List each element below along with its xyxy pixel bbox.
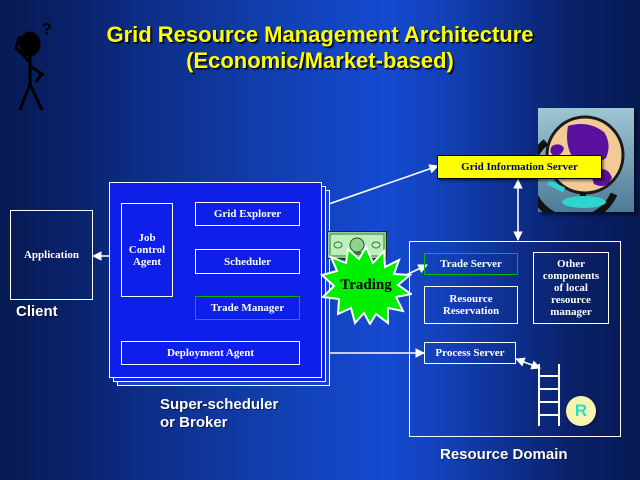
application-label: Application	[24, 249, 79, 261]
resource-domain-caption: Resource Domain	[440, 446, 568, 464]
trade-server-label: Trade Server	[440, 258, 502, 270]
super-scheduler-caption-line-1: Super-scheduler	[160, 396, 278, 414]
other-components-label-4: resource	[551, 294, 591, 306]
resource-badge-label: R	[575, 401, 587, 421]
application-box[interactable]: Application	[10, 210, 93, 300]
thinking-person-icon: ?	[6, 14, 66, 114]
job-control-agent-box[interactable]: Job Control Agent	[121, 203, 173, 297]
super-scheduler-caption: Super-scheduler or Broker	[160, 396, 278, 432]
slide-canvas: Grid Resource Management Architecture (E…	[0, 0, 640, 480]
resource-badge: R	[566, 396, 596, 426]
resource-reservation-box[interactable]: Resource Reservation	[424, 286, 518, 324]
resource-reservation-label-2: Reservation	[443, 305, 499, 317]
job-control-agent-label-2: Control	[129, 244, 165, 256]
job-control-agent-label-3: Agent	[133, 256, 161, 268]
process-server-label: Process Server	[435, 347, 504, 359]
other-components-label-2: components	[543, 270, 599, 282]
page-title: Grid Resource Management Architecture (E…	[0, 22, 640, 74]
process-server-box[interactable]: Process Server	[424, 342, 516, 364]
grid-explorer-label: Grid Explorer	[214, 208, 281, 220]
scheduler-box[interactable]: Scheduler	[195, 249, 300, 274]
grid-information-server-label: Grid Information Server	[461, 161, 578, 173]
title-line-2: (Economic/Market-based)	[0, 48, 640, 74]
other-components-label-5: manager	[550, 306, 592, 318]
title-line-1: Grid Resource Management Architecture	[0, 22, 640, 48]
resource-reservation-label-1: Resource	[449, 293, 492, 305]
super-scheduler-caption-line-2: or Broker	[160, 414, 278, 432]
grid-explorer-box[interactable]: Grid Explorer	[195, 202, 300, 226]
other-components-box[interactable]: Other components of local resource manag…	[533, 252, 609, 324]
trading-star[interactable]: Trading	[320, 245, 412, 325]
svg-text:?: ?	[42, 21, 52, 38]
trading-label: Trading	[320, 277, 412, 294]
job-control-agent-label-1: Job	[138, 232, 155, 244]
deployment-agent-box[interactable]: Deployment Agent	[121, 341, 300, 365]
ladder-icon	[536, 364, 562, 426]
trade-manager-box[interactable]: Trade Manager	[195, 296, 300, 320]
client-caption: Client	[16, 303, 58, 321]
trade-server-box[interactable]: Trade Server	[424, 253, 518, 275]
other-components-label-1: Other	[557, 258, 585, 270]
deployment-agent-label: Deployment Agent	[167, 347, 254, 359]
other-components-label-3: of local	[554, 282, 588, 294]
grid-information-server-box[interactable]: Grid Information Server	[437, 155, 602, 179]
scheduler-label: Scheduler	[224, 256, 271, 268]
trade-manager-label: Trade Manager	[211, 302, 284, 314]
